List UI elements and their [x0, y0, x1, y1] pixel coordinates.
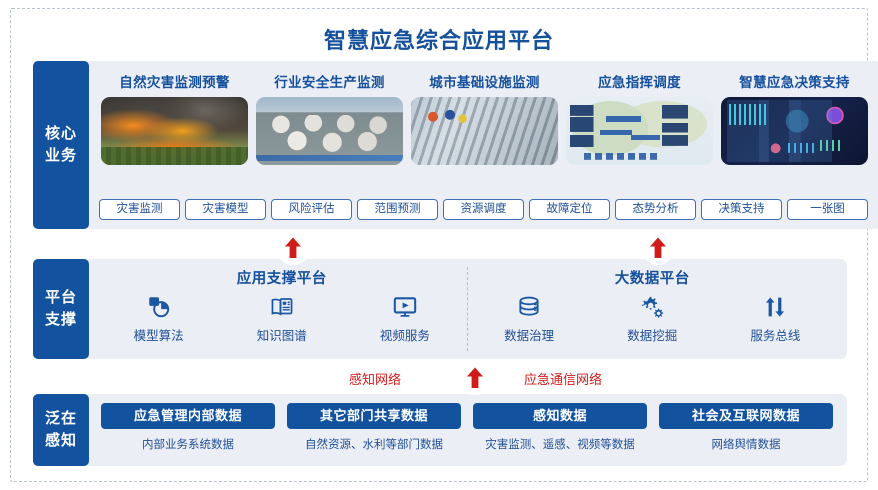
data-source-pill[interactable]: 感知数据: [473, 403, 647, 429]
business-card[interactable]: 智慧应急决策支持: [721, 71, 868, 165]
platform-item[interactable]: 数据治理: [483, 292, 575, 344]
platform-item-label: 数据治理: [483, 325, 575, 344]
data-source-pill[interactable]: 社会及互联网数据: [659, 403, 833, 429]
platform-item-label: 服务总线: [729, 325, 821, 344]
platform-item-label: 视频服务: [359, 325, 451, 344]
capability-tag[interactable]: 态势分析: [615, 199, 696, 220]
ubiquitous-sensing-body: 应急管理内部数据 内部业务系统数据 其它部门共享数据 自然资源、水利等部门数据 …: [81, 394, 847, 466]
card-title: 应急指挥调度: [566, 71, 713, 91]
business-card[interactable]: 自然灾害监测预警: [101, 71, 248, 165]
layer-label-core-business: 核心 业务: [33, 61, 89, 229]
capability-tag[interactable]: 风险评估: [271, 199, 352, 220]
network-label-sensing: 感知网络: [349, 369, 401, 388]
capability-tag-row: 灾害监测 灾害模型 风险评估 范围预测 资源调度 故障定位 态势分析 决策支持 …: [99, 199, 868, 220]
network-label-emergency-comm: 应急通信网络: [524, 369, 602, 388]
up-arrow-icon: [458, 361, 492, 395]
layer-label-platform-support: 平台 支撑: [33, 259, 89, 359]
layer-core-business: 核心 业务 自然灾害监测预警 行业安全生产监测 城市基础设施监测: [33, 61, 847, 229]
layer-platform-support: 平台 支撑 应用支撑平台: [33, 259, 847, 359]
card-title: 自然灾害监测预警: [101, 71, 248, 91]
layer-label-line2: 业务: [45, 145, 77, 167]
map-command-dashboard: [566, 97, 713, 165]
layer-label-ubiquitous-sensing: 泛在 感知: [33, 394, 89, 466]
up-arrow-icon: [641, 231, 675, 265]
platform-item[interactable]: 数据挖掘: [606, 292, 698, 344]
card-title: 行业安全生产监测: [256, 71, 403, 91]
data-source-pill[interactable]: 其它部门共享数据: [287, 403, 461, 429]
platform-item[interactable]: 模型算法: [113, 292, 205, 344]
platform-column-title: 应用支撑平台: [97, 267, 467, 288]
database-icon: [483, 292, 575, 322]
capability-tag[interactable]: 灾害模型: [185, 199, 266, 220]
data-source-subtitle: 网络舆情数据: [659, 436, 833, 452]
dark-analytics-dashboard: [721, 97, 868, 165]
capability-tag[interactable]: 范围预测: [357, 199, 438, 220]
card-title: 城市基础设施监测: [411, 71, 558, 91]
pipeline-workers-water-photo: [411, 97, 558, 165]
capability-tag[interactable]: 一张图: [787, 199, 868, 220]
core-business-cards: 自然灾害监测预警 行业安全生产监测 城市基础设施监测 应急指挥调度 智慧应急决策: [101, 71, 868, 165]
exchange-arrows-icon: [729, 292, 821, 322]
business-card[interactable]: 行业安全生产监测: [256, 71, 403, 165]
video-service-icon: [359, 292, 451, 322]
layer-label-line2: 支撑: [45, 309, 77, 331]
layer-label-line2: 感知: [45, 430, 77, 452]
data-source-subtitle: 自然资源、水利等部门数据: [287, 436, 461, 452]
page-title: 智慧应急综合应用平台: [11, 23, 867, 55]
gears-icon: [606, 292, 698, 322]
data-source-subtitle: 灾害监测、遥感、视频等数据: [473, 436, 647, 452]
capability-tag[interactable]: 决策支持: [701, 199, 782, 220]
platform-column-application-support: 应用支撑平台 模型算法: [97, 267, 467, 351]
core-business-body: 自然灾害监测预警 行业安全生产监测 城市基础设施监测 应急指挥调度 智慧应急决策: [81, 61, 878, 229]
platform-column-title: 大数据平台: [468, 267, 838, 288]
diagram-frame: 智慧应急综合应用平台 核心 业务 自然灾害监测预警 行业安全生产监测 城市基础设: [10, 8, 868, 482]
platform-item-label: 数据挖掘: [606, 325, 698, 344]
wildfire-smoke-photo: [101, 97, 248, 165]
card-title: 智慧应急决策支持: [721, 71, 868, 91]
capability-tag[interactable]: 故障定位: [529, 199, 610, 220]
business-card[interactable]: 应急指挥调度: [566, 71, 713, 165]
platform-item-label: 知识图谱: [236, 325, 328, 344]
oil-storage-tanks-photo: [256, 97, 403, 165]
platform-item-label: 模型算法: [113, 325, 205, 344]
layer-label-line1: 平台: [45, 287, 77, 309]
platform-item[interactable]: 视频服务: [359, 292, 451, 344]
data-source-group[interactable]: 感知数据 灾害监测、遥感、视频等数据: [473, 403, 647, 452]
data-source-group[interactable]: 应急管理内部数据 内部业务系统数据: [101, 403, 275, 452]
capability-tag[interactable]: 灾害监测: [99, 199, 180, 220]
business-card[interactable]: 城市基础设施监测: [411, 71, 558, 165]
model-algorithm-icon: [113, 292, 205, 322]
layer-label-line1: 泛在: [45, 408, 77, 430]
data-source-group[interactable]: 社会及互联网数据 网络舆情数据: [659, 403, 833, 452]
platform-item[interactable]: 知识图谱: [236, 292, 328, 344]
up-arrow-icon: [276, 231, 310, 265]
data-source-group[interactable]: 其它部门共享数据 自然资源、水利等部门数据: [287, 403, 461, 452]
platform-support-body: 应用支撑平台 模型算法: [81, 259, 847, 359]
capability-tag[interactable]: 资源调度: [443, 199, 524, 220]
layer-label-line1: 核心: [45, 123, 77, 145]
platform-column-big-data: 大数据平台 数据治理: [467, 267, 838, 351]
data-source-subtitle: 内部业务系统数据: [101, 436, 275, 452]
platform-item[interactable]: 服务总线: [729, 292, 821, 344]
layer-ubiquitous-sensing: 泛在 感知 应急管理内部数据 内部业务系统数据 其它部门共享数据 自然资源、水利…: [33, 394, 847, 466]
data-source-pill[interactable]: 应急管理内部数据: [101, 403, 275, 429]
knowledge-graph-icon: [236, 292, 328, 322]
